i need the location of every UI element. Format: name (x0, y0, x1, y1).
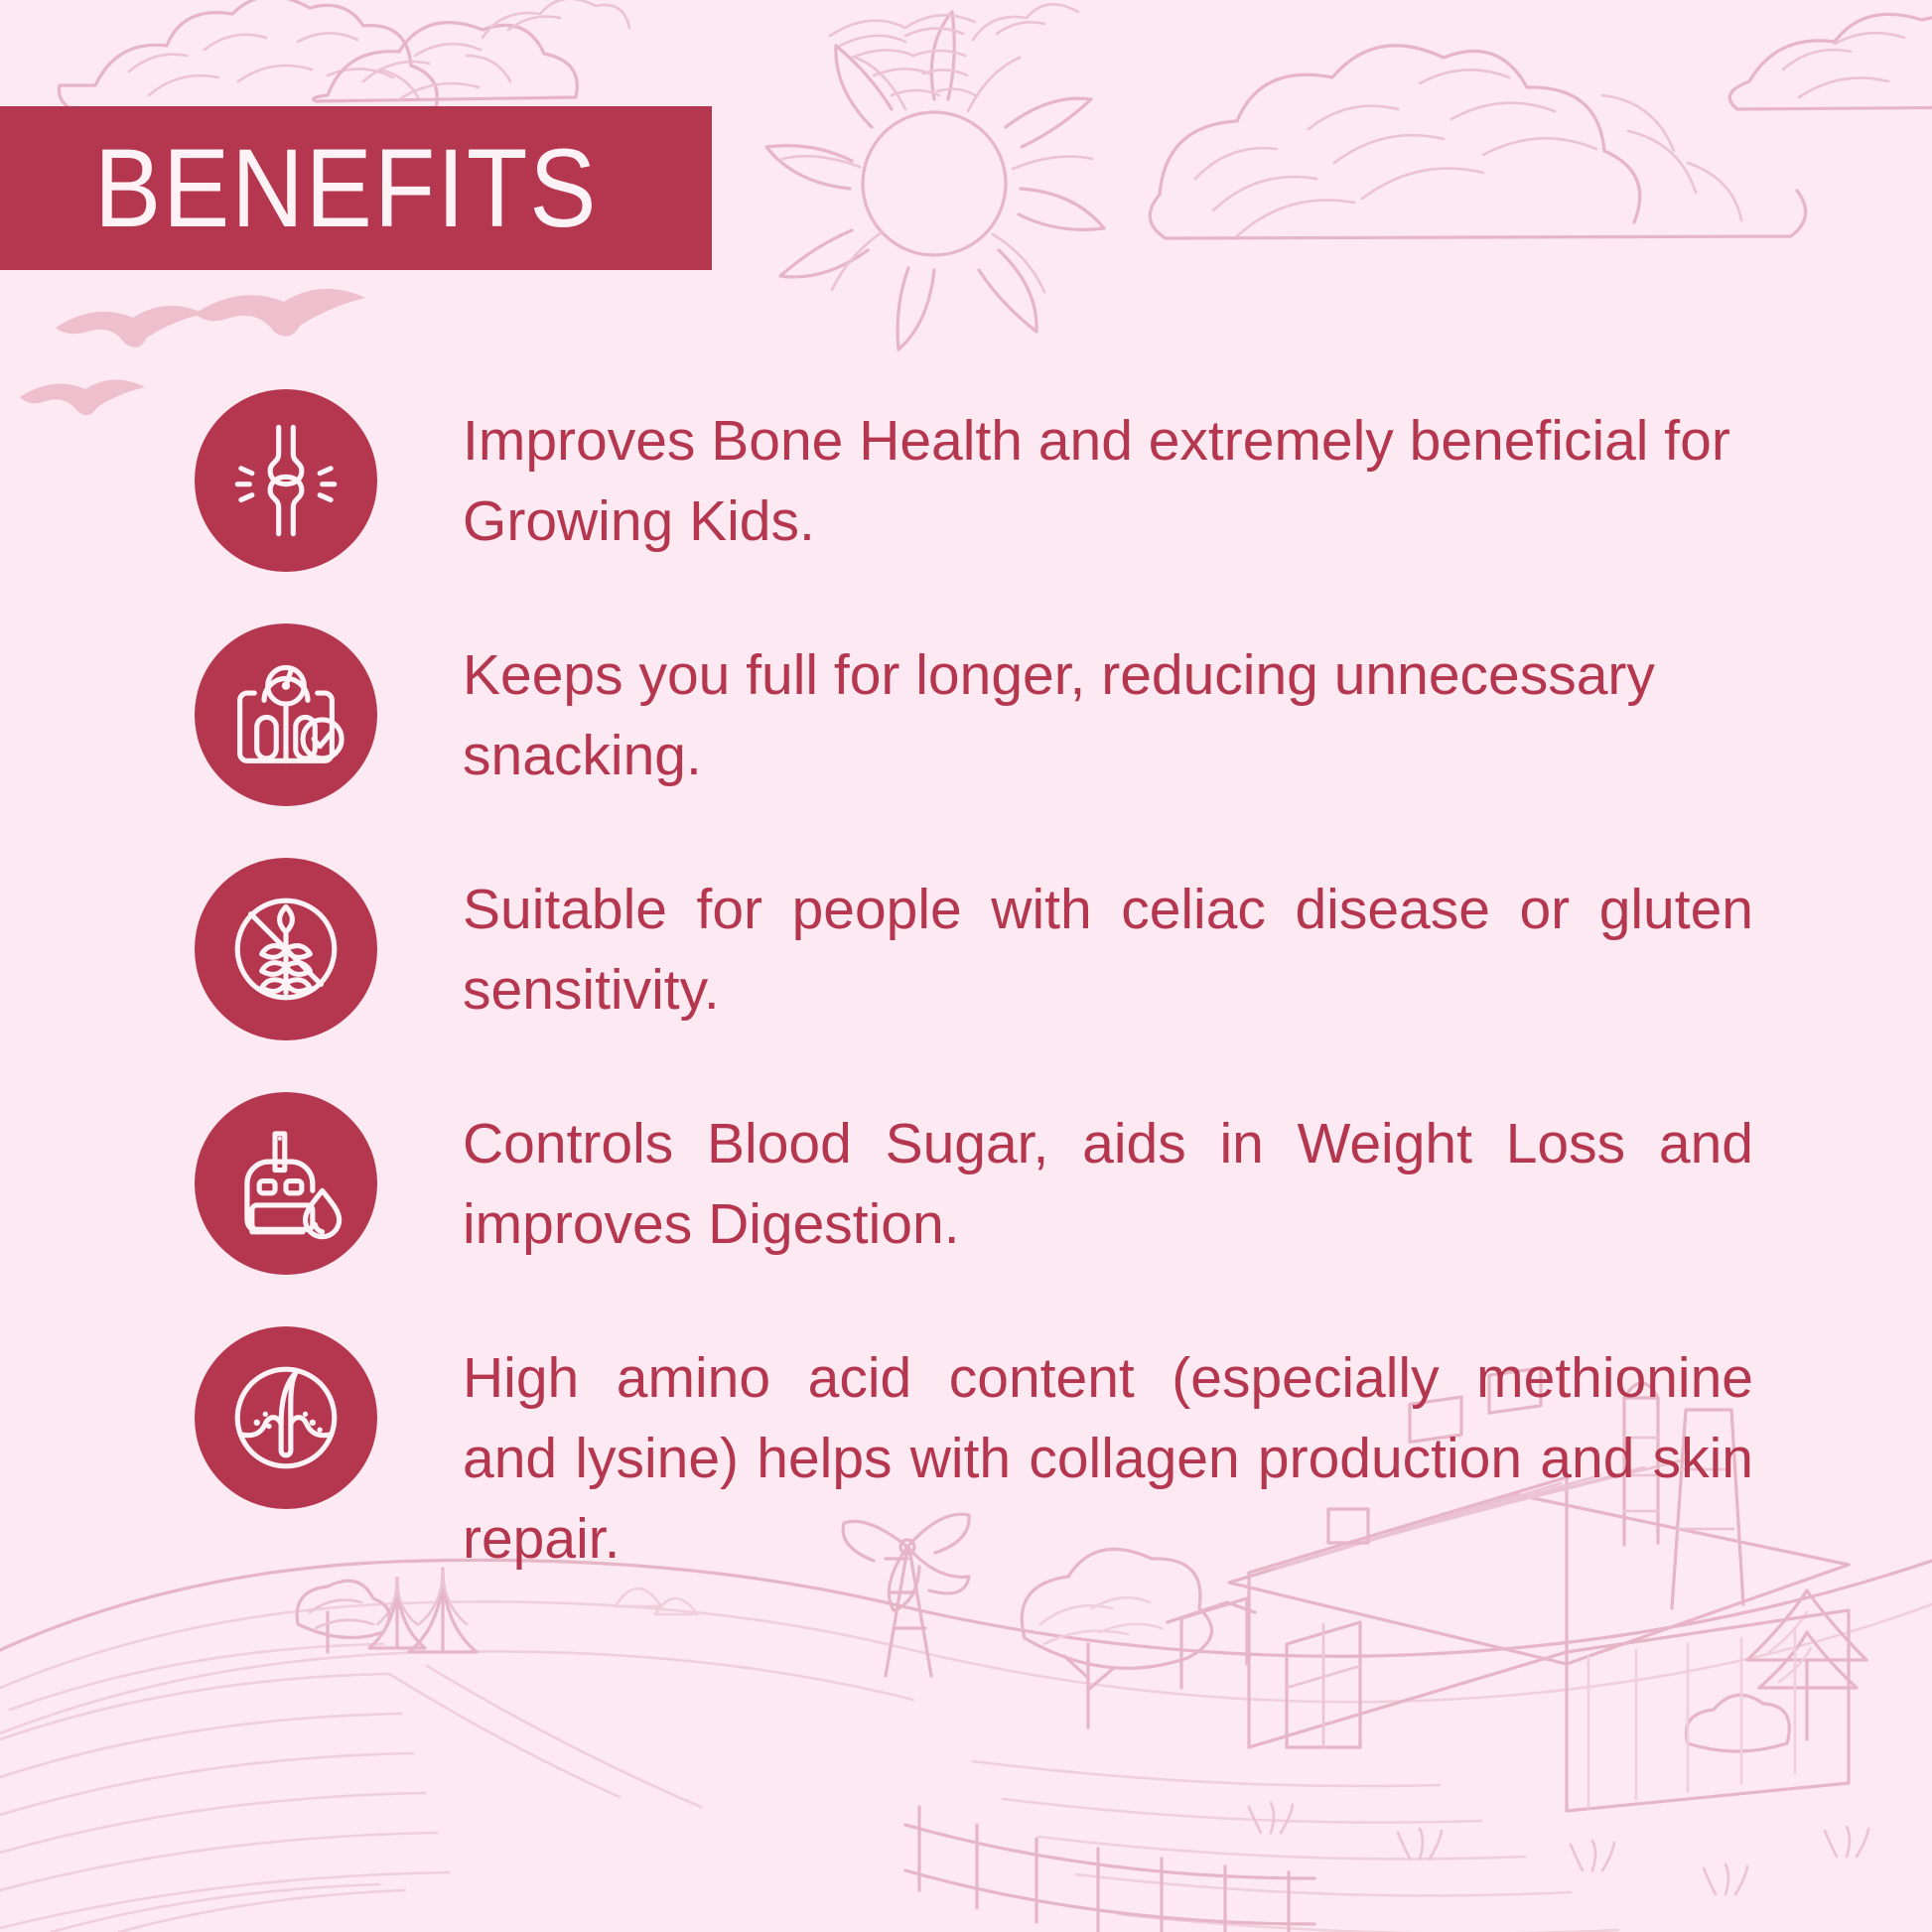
weight-scale-check-icon (195, 623, 377, 806)
benefit-item: Suitable for people with celiac disease … (0, 858, 1932, 1040)
sun-illustration (766, 12, 1104, 349)
benefit-text: Controls Blood Sugar, aids in Weight Los… (463, 1092, 1902, 1265)
gluten-free-icon (195, 858, 377, 1040)
fields-illustration (0, 1560, 1932, 1932)
trees-illustration (297, 1549, 1866, 1751)
benefit-text: High amino acid content (especially meth… (463, 1326, 1902, 1580)
benefits-list: Improves Bone Health and extremely benef… (0, 389, 1932, 1580)
benefit-item: Improves Bone Health and extremely benef… (0, 389, 1932, 572)
hair-follicle-skin-icon (195, 1326, 377, 1509)
benefit-item: Controls Blood Sugar, aids in Weight Los… (0, 1092, 1932, 1275)
page-title: BENEFITS (94, 133, 598, 244)
benefit-item: High amino acid content (especially meth… (0, 1326, 1932, 1580)
benefit-item: Keeps you full for longer, reducing unne… (0, 623, 1932, 806)
grass-illustration (1249, 1803, 1868, 1894)
fence-illustration (905, 1807, 1314, 1932)
glucometer-blood-drop-icon (195, 1092, 377, 1275)
haystack-illustration (616, 1588, 697, 1614)
benefit-text: Suitable for people with celiac disease … (463, 858, 1902, 1031)
bone-joint-icon (195, 389, 377, 572)
benefits-banner: BENEFITS (0, 106, 712, 270)
benefit-text: Improves Bone Health and extremely benef… (463, 389, 1902, 562)
poster-canvas: .ln{fill:none;stroke:#e6b5c6;stroke-widt… (0, 0, 1932, 1932)
benefit-text: Keeps you full for longer, reducing unne… (463, 623, 1902, 796)
